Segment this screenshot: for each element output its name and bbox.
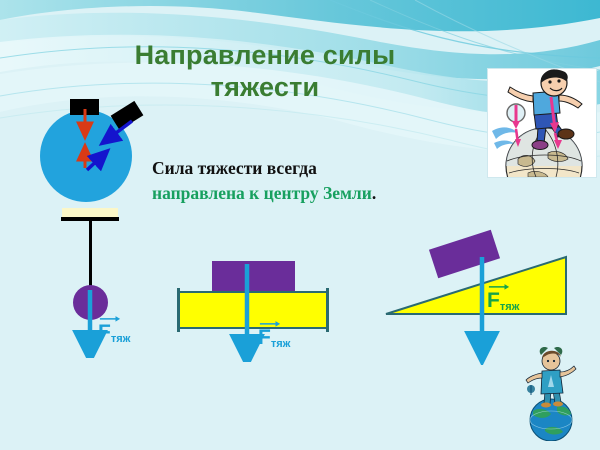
pendulum-string [89,221,92,293]
slide-title-line-1: Направление силы [90,40,440,72]
statement-period: . [372,183,376,203]
boy-on-globe-illustration [488,69,596,177]
pendulum-force-label: F тяж [98,322,130,343]
boy-on-globe-clipart [487,68,597,178]
pendulum-force-symbol: F [98,321,111,344]
table-leg-right [326,288,329,332]
pendulum-force-subscript: тяж [111,333,131,345]
table-leg-left [177,288,180,332]
statement-text: Сила тяжести всегда направлена к центру … [152,156,442,206]
statement-line-2: направлена к центру Земли. [152,181,442,206]
earth-force-arrows [40,95,150,210]
incline-force-symbol: F [487,289,500,312]
statement-line-1: Сила тяжести всегда [152,156,442,181]
vector-arrow-icon [259,319,281,327]
incline-force-subscript: тяж [500,301,520,313]
vector-arrow-icon [488,282,510,290]
girl-on-globe-illustration [517,345,583,441]
statement-line-2-text: направлена к центру Земли [152,183,372,203]
vector-arrow-icon [99,314,121,322]
table-force-symbol: F [258,326,271,349]
slide-canvas: Направление силы тяжести Сила тяжести вс… [0,0,600,450]
earth-arrow-blue-right [108,121,132,139]
girl-on-globe-clipart [517,345,583,441]
earth-arrow-blue-inner [87,156,102,170]
table-force-label: F тяж [258,327,290,348]
table-force-subscript: тяж [271,338,291,350]
incline-force-label: F тяж [487,290,519,311]
